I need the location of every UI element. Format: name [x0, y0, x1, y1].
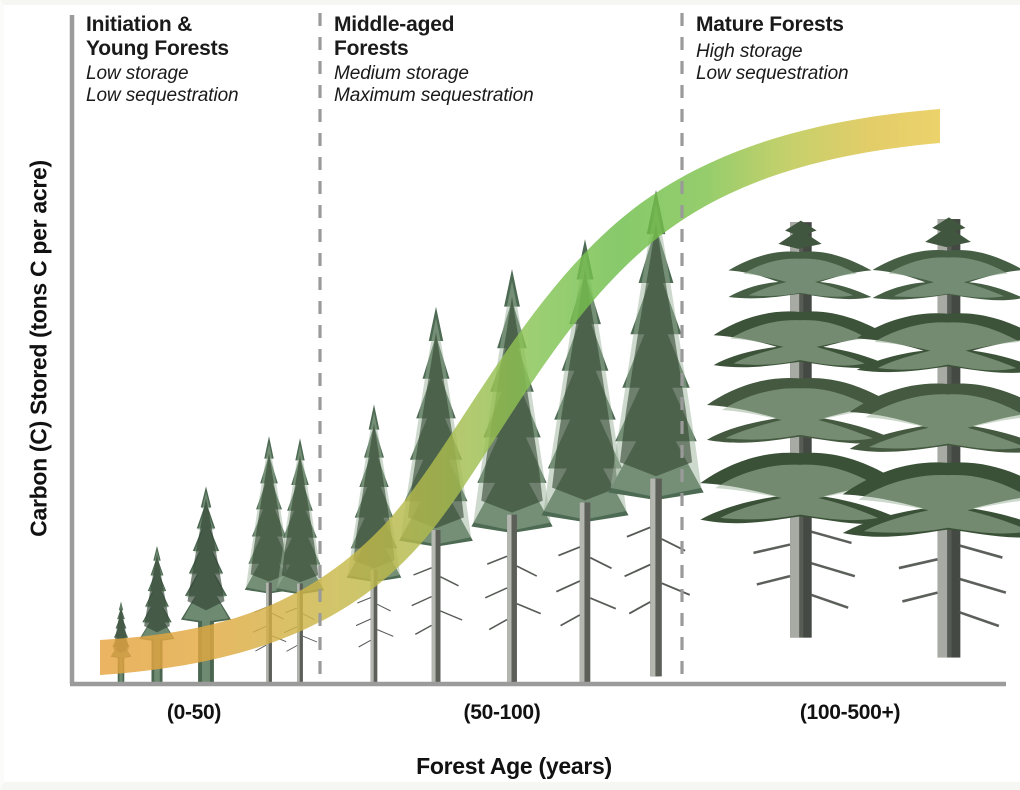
diagram-graphics	[4, 5, 1020, 782]
zone-notes-middle-aged: Medium storage Maximum sequestration	[334, 63, 534, 108]
tree-group-middle-aged-forests	[347, 190, 704, 683]
zone-heading-mature: Mature Forests	[696, 13, 844, 37]
zone-heading-initiation-young: Initiation & Young Forests	[86, 13, 229, 60]
x-tick-50-100: (50-100)	[422, 701, 582, 725]
figure-canvas: Initiation & Young Forests Low storage L…	[0, 0, 1020, 790]
tree-group-mature-forests	[700, 217, 1020, 657]
zone-notes-initiation-young: Low storage Low sequestration	[86, 63, 239, 108]
x-axis-label: Forest Age (years)	[4, 753, 1020, 780]
x-tick-100-500: (100-500+)	[760, 701, 940, 725]
y-axis-label: Carbon (C) Stored (tons C per acre)	[26, 89, 53, 609]
zone-heading-middle-aged: Middle-aged Forests	[334, 13, 454, 60]
zone-notes-mature: High storage Low sequestration	[696, 41, 849, 86]
forest-carbon-diagram: Initiation & Young Forests Low storage L…	[4, 5, 1020, 782]
x-tick-0-50: (0-50)	[114, 701, 274, 725]
